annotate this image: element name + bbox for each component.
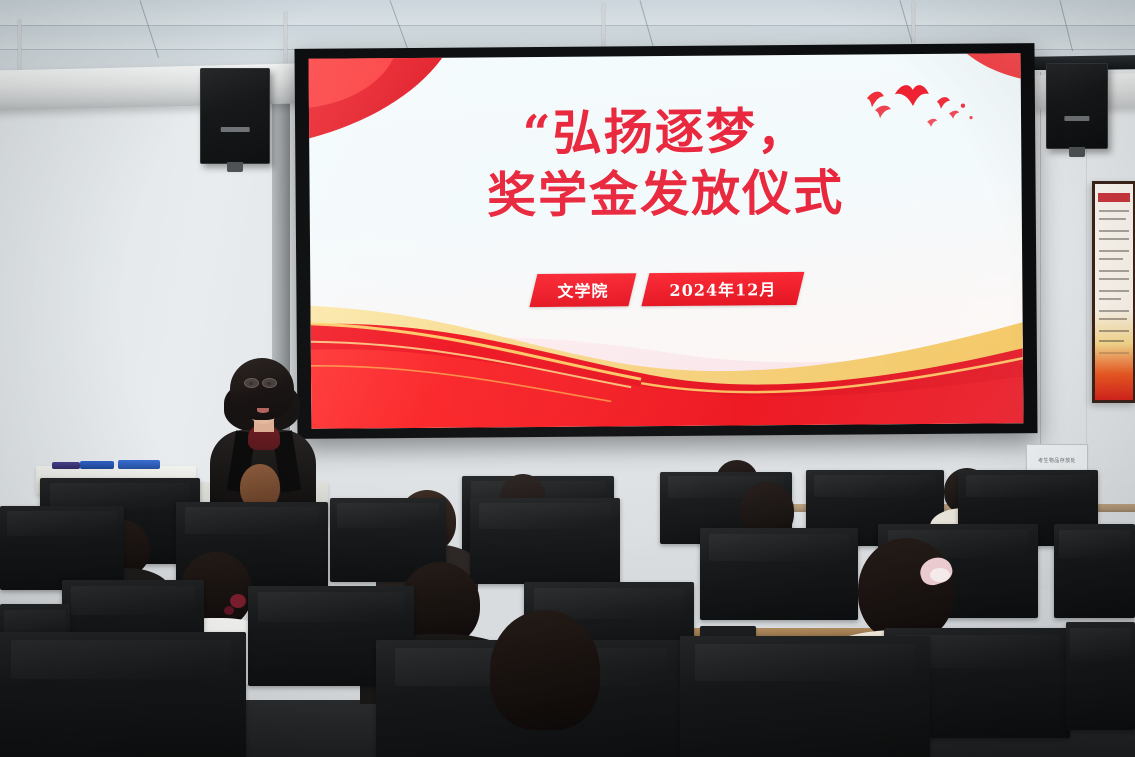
screen-hanger [284,12,287,68]
wall-speaker-left-icon [200,68,270,164]
monitor[interactable] [700,528,858,620]
monitor[interactable] [1054,524,1135,618]
monitor[interactable] [680,636,930,757]
slide-surface: “弘扬逐梦， 奖学金发放仪式 文学院 2024年12月 [309,53,1024,429]
screen-hanger [18,20,21,74]
wall-seam [1040,72,1041,492]
wall-poster [1092,181,1135,403]
slide-wave-decoration [310,288,1023,429]
slide-tag-department-label: 文学院 [557,277,608,301]
monitor[interactable] [1066,622,1135,730]
slide-tag-date-label: 2024年12月 [669,276,776,301]
slide-title-line-2: 奖学金发放仪式 [309,163,1021,226]
slide-tag-department: 文学院 [529,273,636,307]
photo-scene: “弘扬逐梦， 奖学金发放仪式 文学院 2024年12月 [0,0,1135,757]
computer-lab-rows [0,440,1135,757]
projection-screen: “弘扬逐梦， 奖学金发放仪式 文学院 2024年12月 [294,43,1037,439]
slide-title-block: “弘扬逐梦， 奖学金发放仪式 [309,101,1022,226]
slide-title-line-1: “弘扬逐梦， [309,101,1021,164]
monitor[interactable] [0,632,246,757]
wall-speaker-right-icon [1046,63,1108,149]
monitor[interactable] [0,506,124,590]
slide-tag-date: 2024年12月 [641,272,804,306]
monitor[interactable] [470,498,620,584]
slide-tag-row: 文学院 2024年12月 [310,270,1022,309]
